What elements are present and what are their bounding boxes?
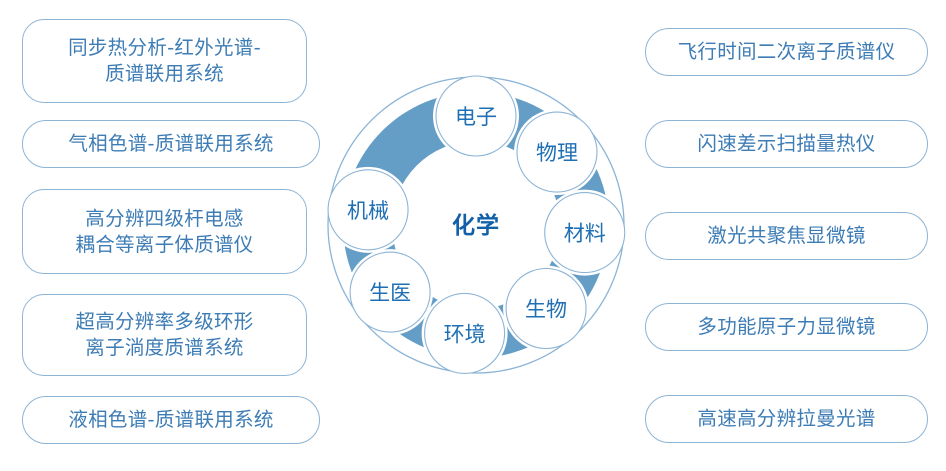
list-item[interactable]: 高分辨四级杆电感 耦合等离子体质谱仪 bbox=[22, 189, 307, 274]
discipline-node-label: 机械 bbox=[347, 199, 389, 223]
list-item[interactable]: 液相色谱-质谱联用系统 bbox=[22, 396, 320, 444]
discipline-node-label: 物理 bbox=[536, 141, 578, 165]
discipline-node-label: 生物 bbox=[525, 298, 567, 322]
right-instrument-column: 飞行时间二次离子质谱仪 闪速差示扫描量热仪 激光共聚焦显微镜 多功能原子力显微镜… bbox=[645, 0, 946, 471]
list-item[interactable]: 高速高分辨拉曼光谱 bbox=[645, 395, 928, 443]
discipline-node-label: 材料 bbox=[564, 222, 606, 246]
list-item[interactable]: 多功能原子力显微镜 bbox=[645, 303, 928, 351]
list-item[interactable]: 飞行时间二次离子质谱仪 bbox=[645, 28, 928, 76]
discipline-node-label: 生医 bbox=[369, 281, 411, 305]
discipline-node-label: 环境 bbox=[444, 322, 486, 346]
list-item[interactable]: 闪速差示扫描量热仪 bbox=[645, 120, 928, 168]
discipline-wheel-diagram: 电子物理材料生物环境生医机械 化学 bbox=[318, 58, 634, 392]
list-item[interactable]: 气相色谱-质谱联用系统 bbox=[22, 120, 320, 168]
hub-label: 化学 bbox=[452, 212, 500, 239]
list-item[interactable]: 同步热分析-红外光谱- 质谱联用系统 bbox=[22, 19, 307, 103]
list-item[interactable]: 激光共聚焦显微镜 bbox=[645, 212, 928, 260]
left-instrument-column: 同步热分析-红外光谱- 质谱联用系统 气相色谱-质谱联用系统 高分辨四级杆电感 … bbox=[22, 0, 328, 471]
discipline-node-label: 电子 bbox=[455, 105, 497, 129]
list-item[interactable]: 超高分辨率多级环形 离子淌度质谱系统 bbox=[22, 294, 307, 376]
